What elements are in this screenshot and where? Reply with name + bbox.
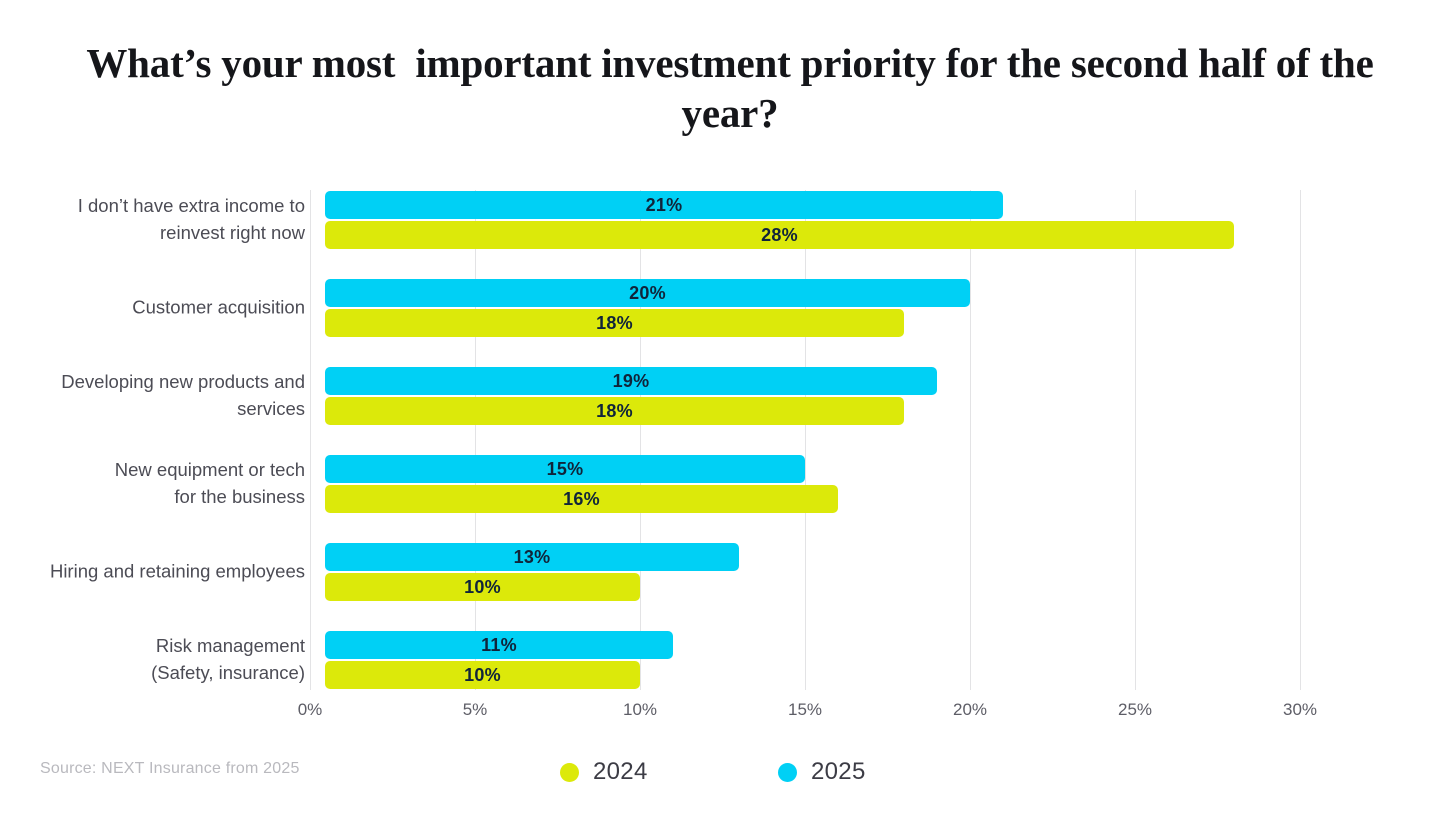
bar-2025[interactable]: 15% (325, 455, 805, 483)
bar-group: 20%18% (325, 279, 1425, 339)
bar-value-label: 11% (325, 631, 673, 659)
bar-value-label: 15% (325, 455, 805, 483)
chart-row: Risk management (Safety, insurance)11%10… (0, 622, 1440, 696)
bar-value-label: 28% (325, 221, 1234, 249)
x-tick-label: 0% (298, 700, 323, 720)
category-label: New equipment or tech for the business (0, 456, 305, 510)
bar-value-label: 20% (325, 279, 970, 307)
legend-item-2024[interactable]: 2024 (560, 755, 648, 789)
category-label: Customer acquisition (0, 294, 305, 321)
x-tick-label: 15% (788, 700, 822, 720)
chart-row: Customer acquisition20%18% (0, 270, 1440, 344)
bar-2025[interactable]: 21% (325, 191, 1003, 219)
bar-value-label: 13% (325, 543, 739, 571)
bar-2024[interactable]: 28% (325, 221, 1234, 249)
source-note: Source: NEXT Insurance from 2025 (40, 760, 300, 778)
chart-row: I don’t have extra income to reinvest ri… (0, 182, 1440, 256)
legend-item-2025[interactable]: 2025 (778, 755, 866, 789)
bar-group: 21%28% (325, 191, 1425, 251)
chart-row: Developing new products and services19%1… (0, 358, 1440, 432)
bar-value-label: 18% (325, 397, 904, 425)
bar-2024[interactable]: 18% (325, 309, 904, 337)
chart-row: Hiring and retaining employees13%10% (0, 534, 1440, 608)
bar-value-label: 10% (325, 573, 640, 601)
x-tick-label: 25% (1118, 700, 1152, 720)
bar-2024[interactable]: 10% (325, 573, 640, 601)
category-label: I don’t have extra income to reinvest ri… (0, 192, 305, 246)
category-label: Hiring and retaining employees (0, 558, 305, 585)
category-rows: I don’t have extra income to reinvest ri… (0, 180, 1440, 680)
bar-group: 11%10% (325, 631, 1425, 691)
x-tick-label: 10% (623, 700, 657, 720)
bar-2025[interactable]: 19% (325, 367, 937, 395)
bar-group: 19%18% (325, 367, 1425, 427)
bar-2025[interactable]: 13% (325, 543, 739, 571)
x-tick-label: 5% (463, 700, 488, 720)
bar-value-label: 19% (325, 367, 937, 395)
bar-2025[interactable]: 20% (325, 279, 970, 307)
bar-2024[interactable]: 16% (325, 485, 838, 513)
legend-dot-icon (778, 763, 797, 782)
bar-value-label: 16% (325, 485, 838, 513)
legend-label: 2025 (811, 758, 866, 786)
chart-row: New equipment or tech for the business15… (0, 446, 1440, 520)
bar-value-label: 10% (325, 661, 640, 689)
bar-value-label: 18% (325, 309, 904, 337)
x-axis: 0%5%10%15%20%25%30% (0, 700, 1440, 730)
category-label: Developing new products and services (0, 368, 305, 422)
x-tick-label: 30% (1283, 700, 1317, 720)
chart-title: What’s your most important investment pr… (70, 38, 1390, 139)
chart-legend: 20242025 (540, 755, 960, 789)
x-tick-label: 20% (953, 700, 987, 720)
legend-dot-icon (560, 763, 579, 782)
bar-2024[interactable]: 10% (325, 661, 640, 689)
bar-2024[interactable]: 18% (325, 397, 904, 425)
bar-group: 15%16% (325, 455, 1425, 515)
legend-label: 2024 (593, 758, 648, 786)
category-label: Risk management (Safety, insurance) (0, 632, 305, 686)
bar-group: 13%10% (325, 543, 1425, 603)
bar-2025[interactable]: 11% (325, 631, 673, 659)
bar-chart: I don’t have extra income to reinvest ri… (0, 180, 1440, 700)
bar-value-label: 21% (325, 191, 1003, 219)
